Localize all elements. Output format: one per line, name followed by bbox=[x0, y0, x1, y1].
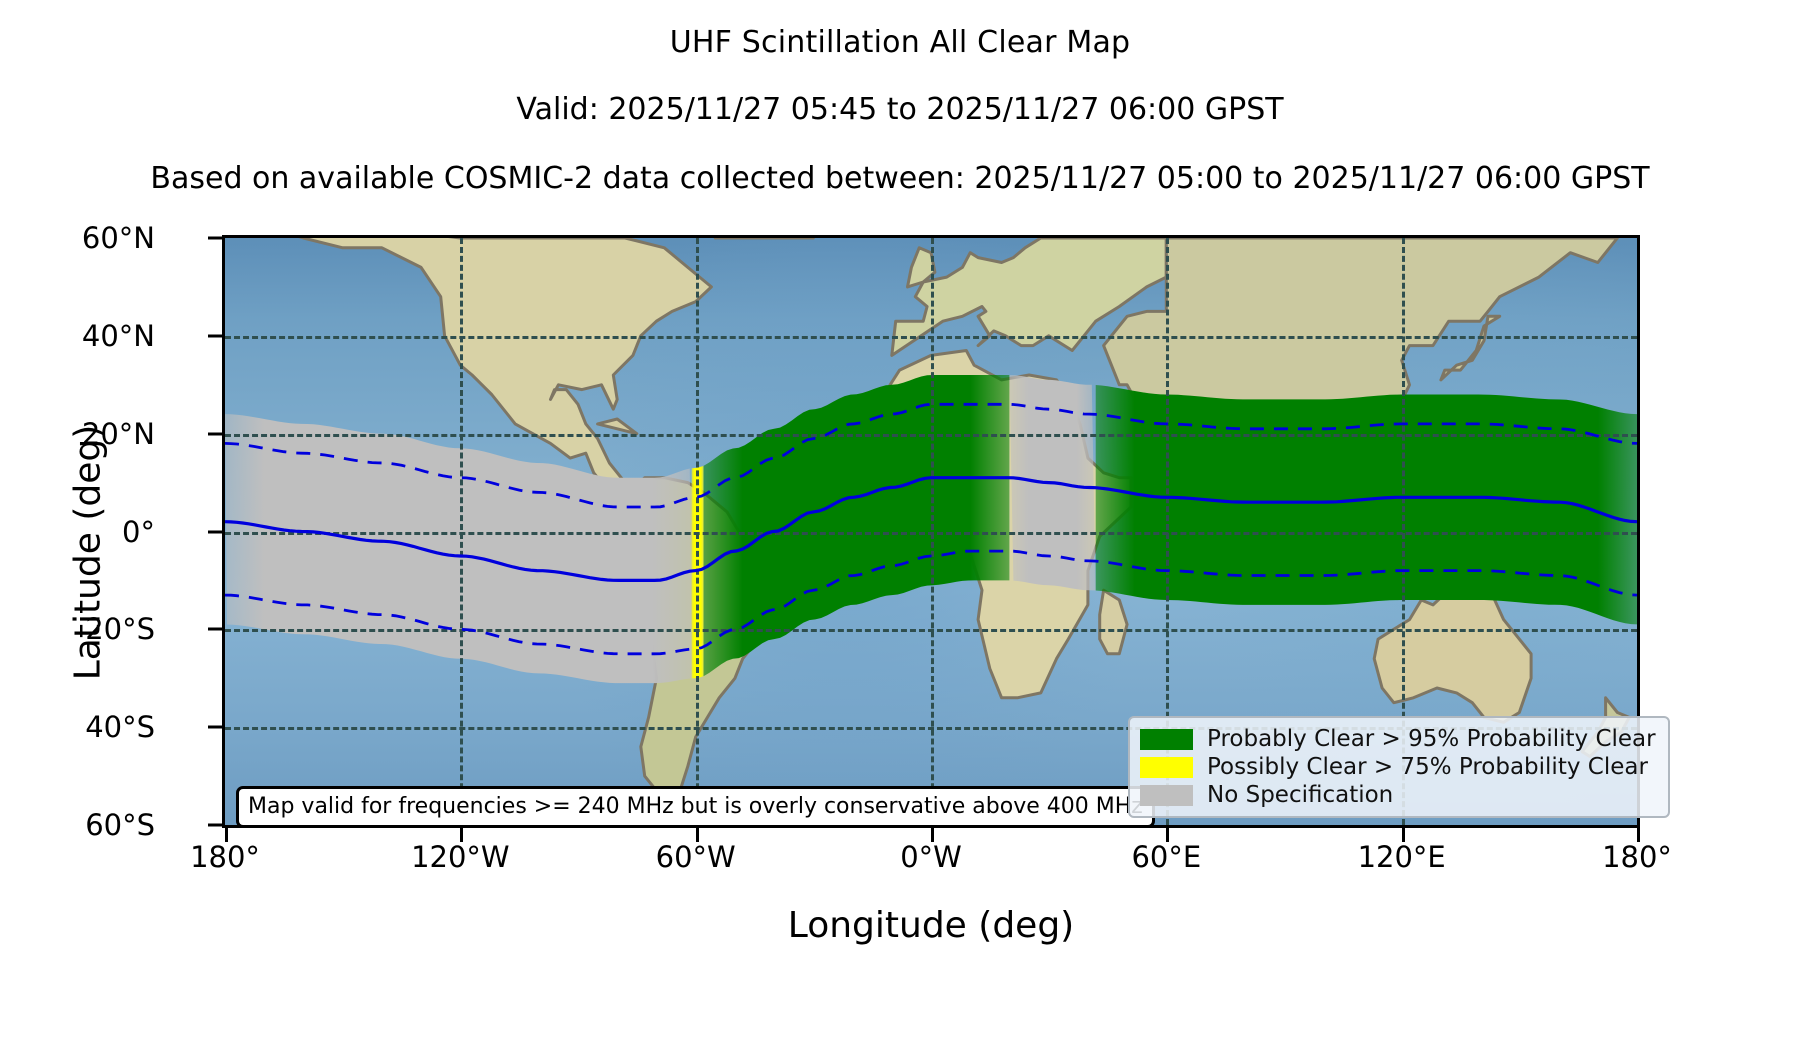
x-tick-mark bbox=[931, 828, 934, 842]
legend-item[interactable]: No Specification bbox=[1140, 781, 1656, 809]
y-tick-mark bbox=[208, 237, 222, 240]
y-tick-label: 20°S bbox=[85, 612, 155, 646]
y-tick-mark bbox=[208, 334, 222, 337]
x-tick-label: 180° bbox=[190, 840, 260, 874]
legend: Probably Clear > 95% Probability ClearPo… bbox=[1128, 716, 1670, 818]
equator-line bbox=[225, 478, 1637, 581]
y-tick-mark bbox=[208, 824, 222, 827]
legend-item-label: No Specification bbox=[1207, 782, 1393, 808]
x-tick-label: 120°E bbox=[1358, 840, 1446, 874]
x-tick-mark bbox=[460, 828, 463, 842]
frequency-validity-note: Map valid for frequencies >= 240 MHz but… bbox=[236, 786, 1155, 828]
y-tick-mark bbox=[208, 432, 222, 435]
x-tick-label: 120°W bbox=[411, 840, 510, 874]
y-tick-label: 60°N bbox=[82, 221, 155, 255]
x-tick-label: 0°W bbox=[900, 840, 962, 874]
legend-color-swatch bbox=[1140, 729, 1193, 750]
dip-boundary-line bbox=[225, 551, 1637, 654]
title-block: UHF Scintillation All Clear Map Valid: 2… bbox=[0, 0, 1800, 196]
y-tick-mark bbox=[208, 530, 222, 533]
x-tick-mark bbox=[225, 828, 228, 842]
x-tick-mark bbox=[696, 828, 699, 842]
x-tick-label: 180° bbox=[1602, 840, 1672, 874]
x-tick-label: 60°W bbox=[656, 840, 736, 874]
y-tick-label: 60°S bbox=[85, 808, 155, 842]
legend-item[interactable]: Probably Clear > 95% Probability Clear bbox=[1140, 725, 1656, 753]
data-source-text: Based on available COSMIC-2 data collect… bbox=[0, 161, 1800, 196]
x-axis-label: Longitude (deg) bbox=[222, 905, 1640, 946]
x-tick-mark bbox=[1402, 828, 1405, 842]
y-tick-label: 40°S bbox=[85, 710, 155, 744]
y-tick-label: 0° bbox=[122, 515, 155, 549]
x-tick-mark bbox=[1166, 828, 1169, 842]
y-tick-label: 40°N bbox=[82, 319, 155, 353]
y-tick-mark bbox=[208, 628, 222, 631]
legend-item-label: Possibly Clear > 75% Probability Clear bbox=[1207, 754, 1648, 780]
dip-boundary-line bbox=[225, 404, 1637, 507]
valid-period-text: Valid: 2025/11/27 05:45 to 2025/11/27 06… bbox=[0, 92, 1800, 127]
y-tick-label: 20°N bbox=[82, 417, 155, 451]
legend-color-swatch bbox=[1140, 757, 1193, 778]
x-tick-label: 60°E bbox=[1131, 840, 1201, 874]
y-tick-mark bbox=[208, 726, 222, 729]
legend-item-label: Probably Clear > 95% Probability Clear bbox=[1207, 726, 1656, 752]
legend-color-swatch bbox=[1140, 785, 1193, 806]
x-tick-mark bbox=[1637, 828, 1640, 842]
page-title: UHF Scintillation All Clear Map bbox=[0, 25, 1800, 60]
legend-item[interactable]: Possibly Clear > 75% Probability Clear bbox=[1140, 753, 1656, 781]
